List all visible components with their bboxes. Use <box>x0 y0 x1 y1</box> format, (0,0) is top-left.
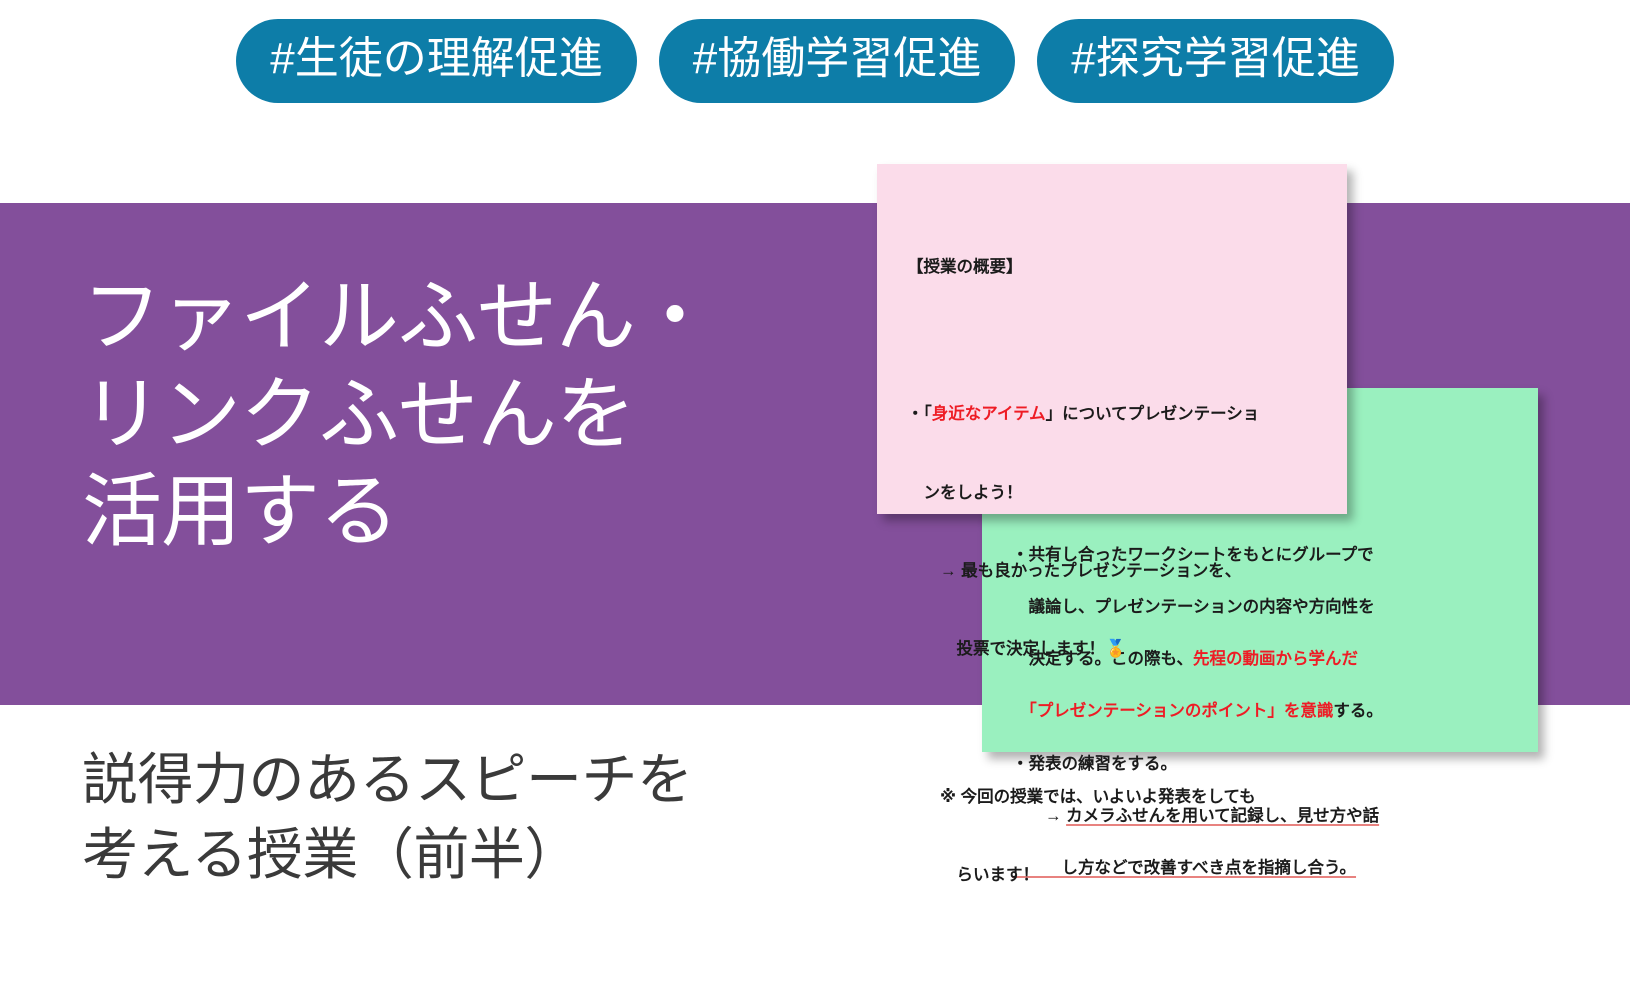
pink-line-3: → 最も良かったプレゼンテーションを、 <box>907 558 1325 584</box>
tag-row: #生徒の理解促進 #協働学習促進 #探究学習促進 <box>0 0 1630 200</box>
pink-line-4-text: 投票で決定します！ <box>907 640 1105 658</box>
tag-label: #探究学習促進 <box>1071 34 1359 83</box>
pink-line-1-b: 」についてプレゼンテーショ <box>1046 405 1260 423</box>
pink-spacer-1 <box>907 332 1325 349</box>
pink-spacer-2 <box>907 715 1325 732</box>
tag-label: #生徒の理解促進 <box>270 34 602 83</box>
sticky-note-pink[interactable]: 【授業の概要】 ・「身近なアイテム」についてプレゼンテーショ ンをしよう！ → … <box>877 164 1347 514</box>
pink-line-1-highlight: 身近なアイテム <box>932 405 1046 423</box>
tag-chip-2[interactable]: #探究学習促進 <box>1037 19 1393 103</box>
pink-line-2: ンをしよう！ <box>907 480 1325 506</box>
page-title: ファイルふせん・ リンクふせんを 活用する <box>82 268 802 561</box>
medal-icon: 🏅 <box>1105 639 1126 658</box>
pink-line-1: ・「身近なアイテム」についてプレゼンテーショ <box>907 401 1325 427</box>
tag-chip-0[interactable]: #生徒の理解促進 <box>236 19 636 103</box>
pink-line-5: ※ 今回の授業では、いよいよ発表をしても <box>907 784 1325 810</box>
tag-chip-1[interactable]: #協働学習促進 <box>659 19 1015 103</box>
pink-line-6: らいます！ <box>907 862 1325 888</box>
pink-heading: 【授業の概要】 <box>907 254 1325 280</box>
tag-label: #協働学習促進 <box>693 34 981 83</box>
pink-note-body: 【授業の概要】 ・「身近なアイテム」についてプレゼンテーショ ンをしよう！ → … <box>877 164 1347 940</box>
pink-line-1-a: ・「 <box>907 405 932 423</box>
pink-line-4: 投票で決定します！🏅 <box>907 636 1325 663</box>
page-subtitle: 説得力のあるスピーチを 考える授業（前半） <box>82 742 842 892</box>
